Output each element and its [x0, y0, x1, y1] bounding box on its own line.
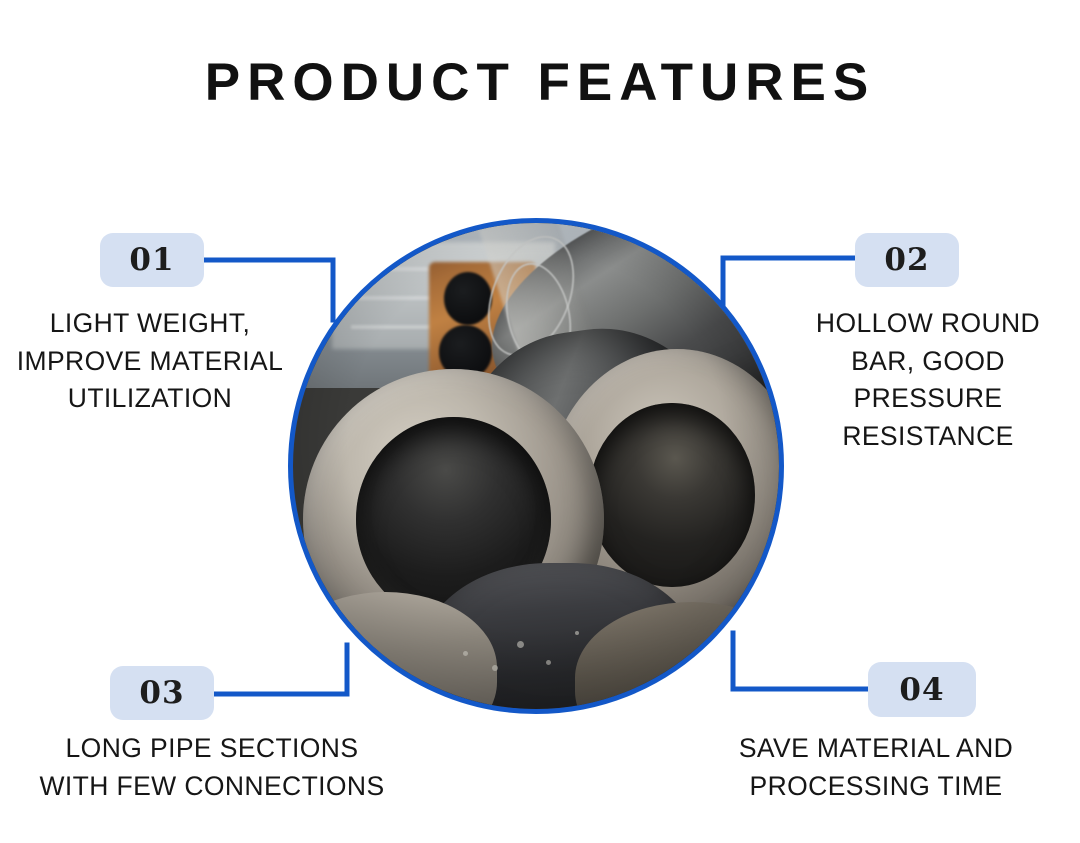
- feature-text-02: HOLLOW ROUND BAR, GOOD PRESSURE RESISTAN…: [778, 305, 1078, 456]
- feature-text-04-line-1: SAVE MATERIAL AND: [706, 730, 1046, 768]
- feature-text-01: LIGHT WEIGHT, IMPROVE MATERIAL UTILIZATI…: [0, 305, 300, 418]
- feature-text-02-line-3: PRESSURE: [778, 380, 1078, 418]
- steel-pipes-photo: [293, 223, 779, 709]
- feature-text-02-line-1: HOLLOW ROUND: [778, 305, 1078, 343]
- feature-badge-03[interactable]: 03: [110, 666, 214, 720]
- hero-image-circle: [288, 218, 784, 714]
- feature-text-03: LONG PIPE SECTIONS WITH FEW CONNECTIONS: [8, 730, 416, 805]
- page-title: PRODUCT FEATURES: [0, 52, 1080, 113]
- feature-text-04: SAVE MATERIAL AND PROCESSING TIME: [706, 730, 1046, 805]
- feature-text-01-line-3: UTILIZATION: [0, 380, 300, 418]
- feature-badge-01[interactable]: 01: [100, 233, 204, 287]
- feature-text-03-line-2: WITH FEW CONNECTIONS: [8, 768, 416, 806]
- feature-text-02-line-4: RESISTANCE: [778, 418, 1078, 456]
- feature-text-03-line-1: LONG PIPE SECTIONS: [8, 730, 416, 768]
- feature-badge-04[interactable]: 04: [868, 662, 976, 717]
- feature-text-02-line-2: BAR, GOOD: [778, 343, 1078, 381]
- feature-text-01-line-2: IMPROVE MATERIAL: [0, 343, 300, 381]
- feature-badge-02[interactable]: 02: [855, 233, 959, 287]
- feature-text-04-line-2: PROCESSING TIME: [706, 768, 1046, 806]
- feature-text-01-line-1: LIGHT WEIGHT,: [0, 305, 300, 343]
